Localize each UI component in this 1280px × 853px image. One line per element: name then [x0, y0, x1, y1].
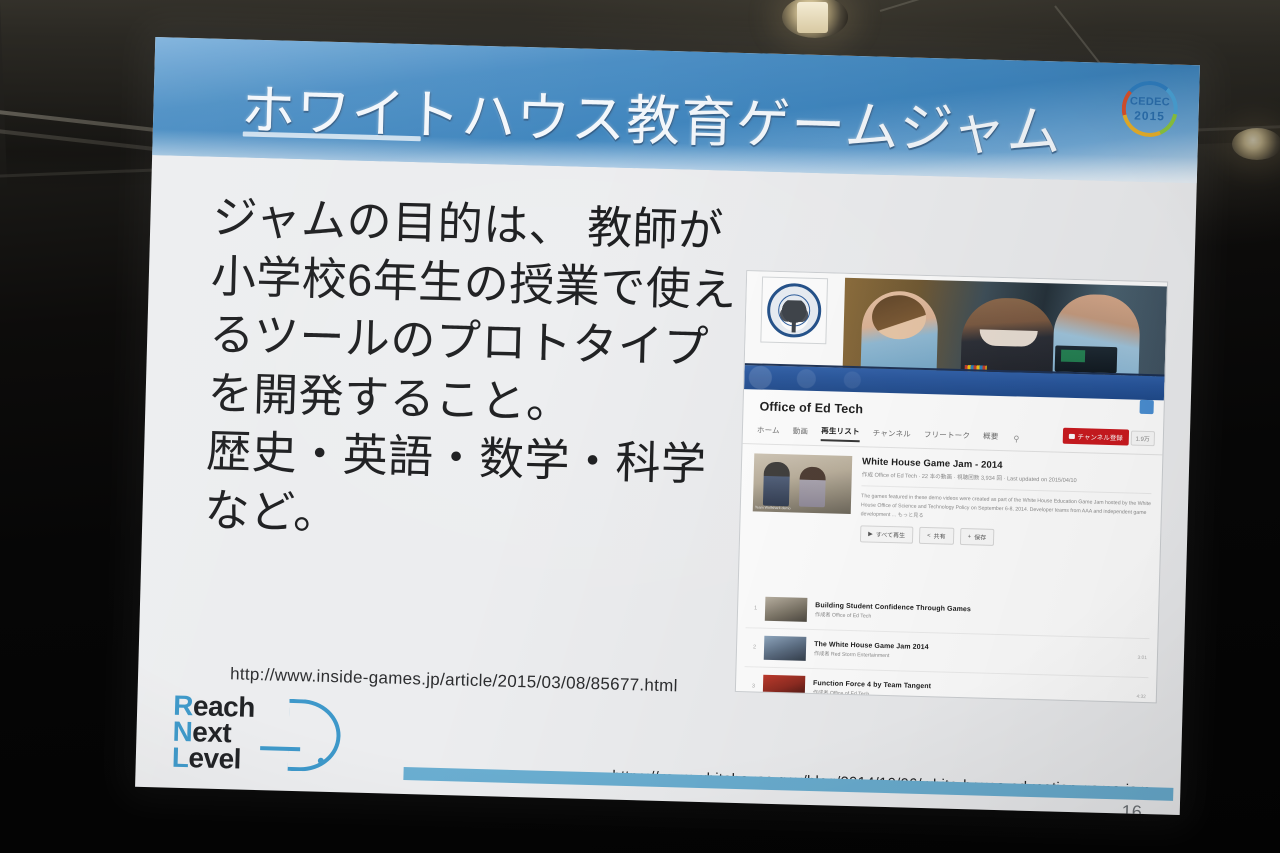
item-thumbnail[interactable]: [764, 636, 807, 661]
thumb-person-right: [799, 467, 826, 508]
slide-page-number: 16: [1121, 801, 1142, 815]
logo-cap-l: L: [171, 742, 188, 773]
item-thumbnail[interactable]: [765, 597, 808, 622]
play-all-button[interactable]: ▶ すべて再生: [860, 526, 913, 544]
item-body: Function Force 4 by Team Tangent 作成者 Off…: [813, 680, 1129, 702]
thumb-overlay: [764, 676, 804, 677]
dept-of-education-seal-icon[interactable]: [761, 278, 827, 344]
play-all-label: すべて再生: [876, 530, 906, 540]
search-icon[interactable]: ⚲: [1013, 434, 1019, 443]
plus-icon: +: [968, 534, 972, 540]
tab-playlists[interactable]: 再生リスト: [821, 425, 860, 442]
show-more-link[interactable]: もっと見る: [898, 512, 924, 519]
tab-channels[interactable]: チャンネル: [872, 428, 911, 443]
logo-bracket-icon: [288, 699, 342, 772]
cedec-year: 2015: [1134, 108, 1165, 123]
thumb-person-left: [763, 462, 790, 507]
tab-home[interactable]: ホーム: [757, 424, 780, 439]
channel-tabs: ホーム 動画 再生リスト チャンネル フリートーク 概要 ⚲: [757, 423, 1020, 446]
featured-playlist: Team Wolfshark demo White House Game Jam…: [752, 453, 1152, 550]
seal-tree-icon: [779, 300, 810, 333]
youtube-channel-screenshot: Office of Ed Tech/YouTube Office of Ed T…: [736, 271, 1167, 702]
channel-name: Office of Ed Tech: [759, 400, 863, 417]
save-label: 保存: [974, 533, 986, 542]
thumb-overlay: [766, 598, 806, 599]
conference-room: ホワイトハウス教育ゲームジャム ジャムの目的は、 教師が 小学校6年生の授業で使…: [0, 0, 1280, 853]
tab-about[interactable]: 概要: [983, 431, 999, 445]
cedec-2015-logo: CEDEC 2015: [1118, 77, 1182, 141]
item-index: 1: [748, 605, 757, 611]
featured-actions: ▶ すべて再生 < 共有 + 保存: [860, 526, 1150, 551]
save-button[interactable]: + 保存: [959, 528, 994, 546]
youtube-mark-icon: [1069, 433, 1075, 438]
recessed-downlight-icon: [1232, 128, 1280, 160]
banner-laptop: [1055, 345, 1118, 373]
presentation-slide: ホワイトハウス教育ゲームジャム ジャムの目的は、 教師が 小学校6年生の授業で使…: [135, 37, 1200, 815]
thumb-overlay: [765, 637, 805, 638]
subscribe-button[interactable]: チャンネル登録: [1062, 428, 1129, 446]
cedec-name: CEDEC: [1130, 95, 1170, 108]
share-button[interactable]: < 共有: [919, 527, 954, 545]
tab-videos[interactable]: 動画: [793, 425, 809, 439]
google-plus-icon[interactable]: [1140, 400, 1154, 414]
banner-student-left: [860, 290, 938, 378]
divider: [743, 443, 1163, 455]
item-duration: 4:32: [1136, 694, 1145, 699]
subscriber-count: 1.9万: [1130, 431, 1155, 447]
featured-playlist-description: The games featured in these demo videos …: [861, 485, 1152, 527]
item-duration: 3:01: [1138, 655, 1147, 660]
youtube-header: Office of Ed Tech/YouTube: [745, 271, 1167, 374]
projection-screen: ホワイトハウス教育ゲームジャム ジャムの目的は、 教師が 小学校6年生の授業で使…: [60, 30, 1200, 822]
source-url: http://www.inside-games.jp/article/2015/…: [230, 664, 678, 696]
featured-thumbnail[interactable]: Team Wolfshark demo: [753, 453, 853, 514]
playlist-video-list: 1 Building Student Confidence Through Ga…: [742, 589, 1150, 702]
cedec-text: CEDEC 2015: [1118, 77, 1182, 141]
logo-rest-level: evel: [188, 742, 241, 774]
subscribe-label: チャンネル登録: [1077, 431, 1123, 442]
logo-arm-icon: [260, 746, 300, 751]
reach-next-level-logo: Reach Next Level: [167, 692, 359, 777]
tab-discussion[interactable]: フリートーク: [924, 429, 971, 444]
featured-body: White House Game Jam - 2014 作成 Office of…: [860, 456, 1152, 550]
slide-body-text: ジャムの目的は、 教師が 小学校6年生の授業で使え るツールのプロトタイプ を開…: [204, 189, 733, 554]
item-body: Building Student Confidence Through Game…: [815, 602, 1140, 627]
item-index: 2: [747, 644, 756, 650]
item-body: The White House Game Jam 2014 作成者 Red St…: [814, 641, 1130, 666]
logo-line-3: Level: [171, 742, 241, 776]
share-label: 共有: [933, 532, 945, 541]
item-thumbnail[interactable]: [763, 675, 806, 700]
thumb-caption: Team Wolfshark demo: [755, 505, 849, 512]
play-icon: ▶: [868, 531, 873, 538]
item-index: 3: [746, 683, 755, 689]
seal-ring: [766, 283, 821, 338]
share-icon: <: [927, 533, 931, 539]
